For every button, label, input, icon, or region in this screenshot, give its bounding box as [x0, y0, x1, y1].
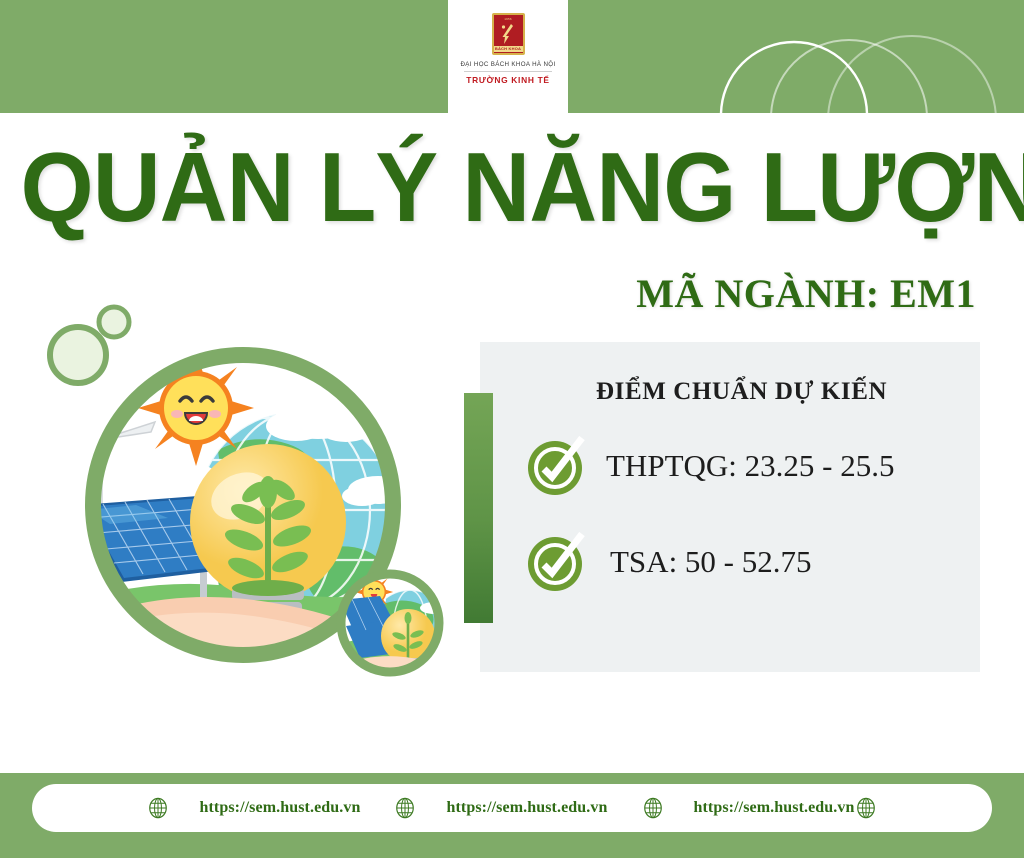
- page-title: QUẢN LÝ NĂNG LƯỢNG: [20, 138, 1003, 236]
- logo-divider: [464, 71, 552, 72]
- major-code: MÃ NGÀNH: EM1: [636, 272, 976, 316]
- globe-icon: [147, 797, 169, 819]
- logo-mark-top-text: 1956: [494, 17, 523, 21]
- globe-icon: [855, 797, 877, 819]
- poster: 1956 BÁCH KHOA ĐẠI HỌC BÁCH KHOA HÀ NỘI …: [0, 0, 1024, 858]
- footer-url[interactable]: https://sem.hust.edu.vn: [694, 799, 855, 817]
- logo-box: 1956 BÁCH KHOA ĐẠI HỌC BÁCH KHOA HÀ NỘI …: [448, 0, 568, 122]
- overlapping-circles-decoration: [684, 0, 1024, 113]
- footer-url[interactable]: https://sem.hust.edu.vn: [446, 799, 607, 817]
- hust-torch-logo-icon: 1956 BÁCH KHOA: [492, 13, 525, 55]
- score-row: TSA: 50 - 52.75: [522, 528, 812, 596]
- check-circle-icon: [522, 528, 590, 596]
- check-circle-icon: [522, 432, 590, 500]
- score-text: TSA: 50 - 52.75: [610, 544, 812, 580]
- panel-heading: ĐIỂM CHUẨN DỰ KIẾN: [596, 378, 887, 406]
- university-name: ĐẠI HỌC BÁCH KHOA HÀ NỘI: [460, 61, 555, 68]
- score-row: THPTQG: 23.25 - 25.5: [522, 432, 894, 500]
- renewable-energy-illustration: [18, 300, 488, 700]
- decorative-circles: [50, 307, 129, 383]
- logo-mark-bottom-text: BÁCH KHOA: [494, 46, 523, 52]
- torch-glyph-icon: [500, 23, 516, 45]
- accent-bar: [464, 393, 493, 623]
- footer-pill: https://sem.hust.edu.vn https://sem.hust…: [32, 784, 992, 832]
- score-text: THPTQG: 23.25 - 25.5: [606, 448, 894, 484]
- globe-icon: [394, 797, 416, 819]
- globe-icon: [642, 797, 664, 819]
- school-name: TRƯỜNG KINH TẾ: [466, 75, 549, 85]
- footer-url[interactable]: https://sem.hust.edu.vn: [199, 799, 360, 817]
